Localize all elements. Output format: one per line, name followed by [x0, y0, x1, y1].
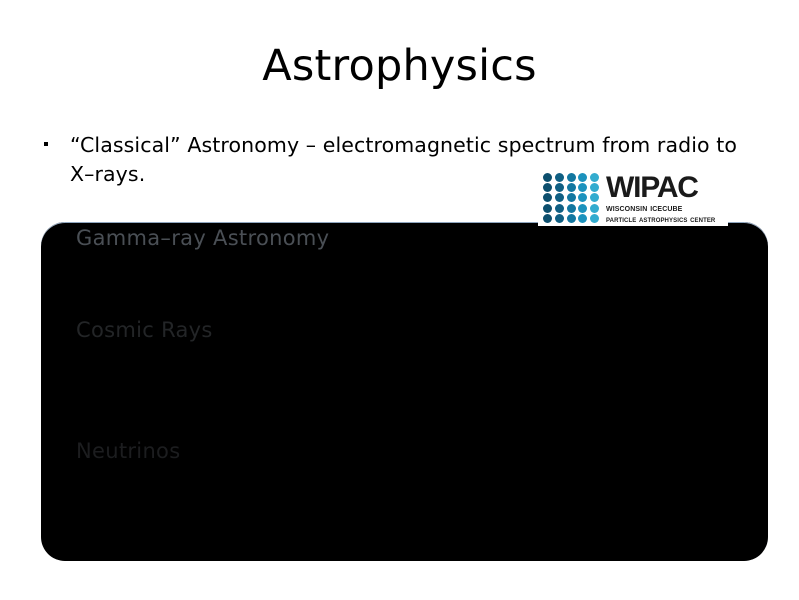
wipac-dot: [543, 173, 552, 182]
wipac-logo: WIPAC Wisconsin IceCube Particle Astroph…: [538, 168, 728, 226]
wipac-dot: [567, 183, 576, 192]
wipac-dot: [578, 193, 587, 202]
wipac-logo-text: WIPAC Wisconsin IceCube Particle Astroph…: [606, 172, 725, 224]
wipac-dot: [555, 193, 564, 202]
wipac-dot: [578, 173, 587, 182]
wipac-dot: [590, 214, 599, 223]
wipac-dot: [543, 214, 552, 223]
wipac-dot: [567, 214, 576, 223]
panel-item-neutrinos: Neutrinos: [76, 439, 180, 463]
wipac-dot: [578, 204, 587, 213]
wipac-dot: [555, 173, 564, 182]
square-bullet-icon: [40, 131, 70, 159]
slide-canvas: Astrophysics “Classical” Astronomy – ele…: [0, 0, 799, 600]
wipac-dot: [590, 173, 599, 182]
wipac-dot: [567, 173, 576, 182]
wipac-dot: [555, 183, 564, 192]
wipac-dot: [567, 204, 576, 213]
wipac-dot: [578, 214, 587, 223]
wipac-dot: [567, 193, 576, 202]
dark-content-panel: Gamma–ray Astronomy Cosmic Rays Neutrino…: [41, 222, 768, 561]
wipac-dot: [555, 214, 564, 223]
wipac-dot: [590, 204, 599, 213]
wipac-dot: [590, 183, 599, 192]
wipac-subtitle-line-2: Particle Astrophysics Center: [606, 214, 725, 224]
wipac-dot: [555, 204, 564, 213]
wipac-dot: [543, 193, 552, 202]
page-title: Astrophysics: [0, 44, 799, 89]
panel-item-gamma-ray-astronomy: Gamma–ray Astronomy: [76, 226, 329, 250]
panel-item-cosmic-rays: Cosmic Rays: [76, 318, 213, 342]
wipac-dot: [543, 204, 552, 213]
wipac-dot-grid-icon: [543, 173, 601, 223]
wipac-dot: [543, 183, 552, 192]
wipac-dot: [590, 193, 599, 202]
wipac-dot: [578, 183, 587, 192]
wipac-wordmark: WIPAC: [606, 173, 725, 202]
wipac-subtitle-line-1: Wisconsin IceCube: [606, 203, 725, 214]
